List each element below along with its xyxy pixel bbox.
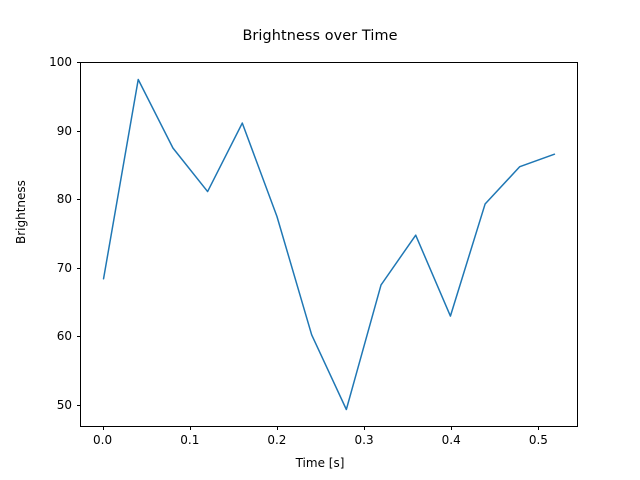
x-axis-label: Time [s]: [0, 456, 640, 470]
x-tick-mark-0.4: [451, 427, 452, 431]
y-tick-label-80: 80: [40, 192, 72, 206]
x-tick-mark-0.2: [277, 427, 278, 431]
x-tick-label-0.1: 0.1: [180, 433, 199, 447]
x-tick-label-0.4: 0.4: [442, 433, 461, 447]
data-line-svg: [81, 63, 577, 426]
y-tick-label-50: 50: [40, 398, 72, 412]
x-tick-mark-0.5: [538, 427, 539, 431]
chart-title: Brightness over Time: [0, 28, 640, 44]
y-tick-label-90: 90: [40, 124, 72, 138]
chart-figure: Brightness over Time Brightness Time [s]…: [0, 0, 640, 480]
x-tick-label-0.0: 0.0: [93, 433, 112, 447]
y-tick-label-60: 60: [40, 329, 72, 343]
x-tick-mark-0.0: [103, 427, 104, 431]
y-tick-label-100: 100: [40, 55, 72, 69]
x-tick-label-0.5: 0.5: [529, 433, 548, 447]
x-tick-label-0.3: 0.3: [355, 433, 374, 447]
plot-area: [80, 62, 578, 427]
y-tick-label-70: 70: [40, 261, 72, 275]
x-tick-mark-0.1: [190, 427, 191, 431]
x-tick-mark-0.3: [364, 427, 365, 431]
y-axis-label: Brightness: [14, 180, 28, 244]
x-tick-label-0.2: 0.2: [267, 433, 286, 447]
brightness-line-series: [104, 79, 555, 409]
